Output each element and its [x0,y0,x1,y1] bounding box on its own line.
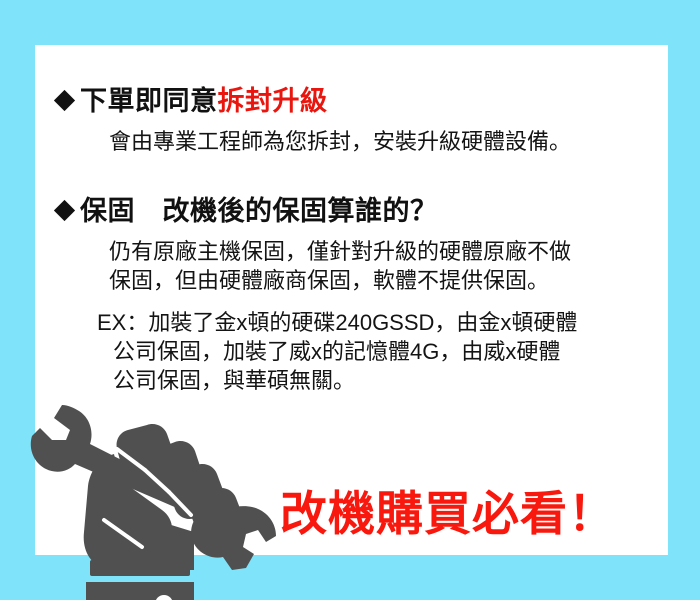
section-2-heading-row: 保固 改機後的保固算誰的？ [57,197,690,227]
diamond-bullet-icon [54,200,75,221]
sleeve-button-1 [155,595,173,600]
section-2-example: EX：加裝了金x頓的硬碟240GSSD，由金x頓硬體 公司保固，加裝了威x的記憶… [57,308,690,395]
section-2-body-line-2: 保固，但由硬體廠商保固，軟體不提供保固。 [57,266,690,295]
example-line-3: 公司保固，與華碩無關。 [57,366,690,395]
example-first-line: EX：加裝了金x頓的硬碟240GSSD，由金x頓硬體 [57,308,690,337]
section-2-body-line-1: 仍有原廠主機保固，僅針對升級的硬體原廠不做 [57,237,690,266]
example-line-1: 加裝了金x頓的硬碟240GSSD，由金x頓硬體 [148,310,577,335]
example-line-2: 公司保固，加裝了威x的記憶體4G，由威x硬體 [57,337,690,366]
section-2-body: 仍有原廠主機保固，僅針對升級的硬體原廠不做 保固，但由硬體廠商保固，軟體不提供保… [57,237,690,295]
section-2-heading: 保固 改機後的保固算誰的？ [57,197,690,227]
diamond-bullet-icon [54,90,75,111]
example-label: EX： [97,310,148,335]
callout-headline: 改機購買必看！ [280,490,616,537]
section-1-body-line-1: 會由專業工程師為您拆封，安裝升級硬體設備。 [57,127,690,156]
sleeve-cuff-top [90,560,190,576]
section-2-heading-black: 保固 改機後的保固算誰的？ [80,197,438,227]
section-1-heading: 下單即同意 拆封升級 [57,87,690,117]
sleeve [86,582,194,600]
white-content-card: 下單即同意 拆封升級 會由專業工程師為您拆封，安裝升級硬體設備。 保固 改機後的… [35,45,668,555]
section-1-body: 會由專業工程師為您拆封，安裝升級硬體設備。 [57,127,690,156]
poster-canvas: 下單即同意 拆封升級 會由專業工程師為您拆封，安裝升級硬體設備。 保固 改機後的… [0,0,700,600]
section-1-heading-row: 下單即同意 拆封升級 [57,87,690,117]
section-1-heading-black: 下單即同意 [80,87,218,117]
section-1-heading-red: 拆封升級 [218,87,328,117]
